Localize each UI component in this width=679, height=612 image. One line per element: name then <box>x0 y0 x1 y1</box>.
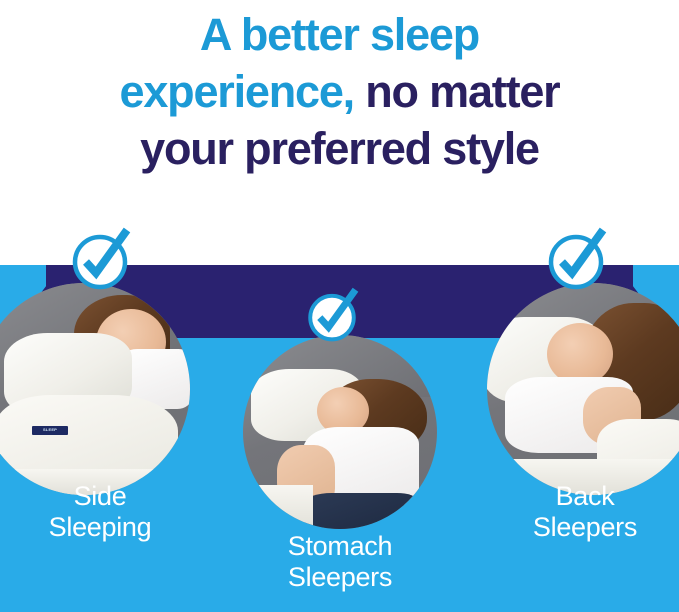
headline-line-2-blue-text: experience, <box>120 66 354 117</box>
headline-line-3-text: your preferred style <box>140 123 539 174</box>
photo-stomach-sleeping <box>243 335 437 529</box>
check-badge-stomach <box>305 288 359 342</box>
headline-line-2-navy-text: no matter <box>354 66 560 117</box>
caption-side: Side Sleeping <box>10 481 190 543</box>
face <box>547 323 613 385</box>
headline-line-2: experience, no matter <box>0 63 679 120</box>
check-mark-icon <box>305 288 359 342</box>
check-badge-back <box>545 228 607 290</box>
check-mark-icon <box>69 228 131 290</box>
photo-side-sleeping: SLEEP <box>0 283 190 495</box>
headline-line-1-text: A better sleep <box>200 9 479 60</box>
photo-circle-stomach <box>243 335 437 529</box>
photo-circle-back <box>487 283 679 495</box>
pants <box>305 493 417 529</box>
check-badge-side <box>69 228 131 290</box>
product-feature-banner: A better sleep experience, no matter you… <box>0 0 679 612</box>
headline-block: A better sleep experience, no matter you… <box>0 0 679 195</box>
brand-tag: SLEEP <box>32 426 68 435</box>
headline-line-1: A better sleep <box>0 6 679 63</box>
headline-line-3: your preferred style <box>0 120 679 177</box>
check-mark-icon <box>545 228 607 290</box>
photo-circle-side: SLEEP <box>0 283 190 495</box>
bed-sheet <box>243 485 313 529</box>
caption-back: Back Sleepers <box>495 481 675 543</box>
caption-stomach: Stomach Sleepers <box>250 531 430 593</box>
photo-back-sleeping <box>487 283 679 495</box>
